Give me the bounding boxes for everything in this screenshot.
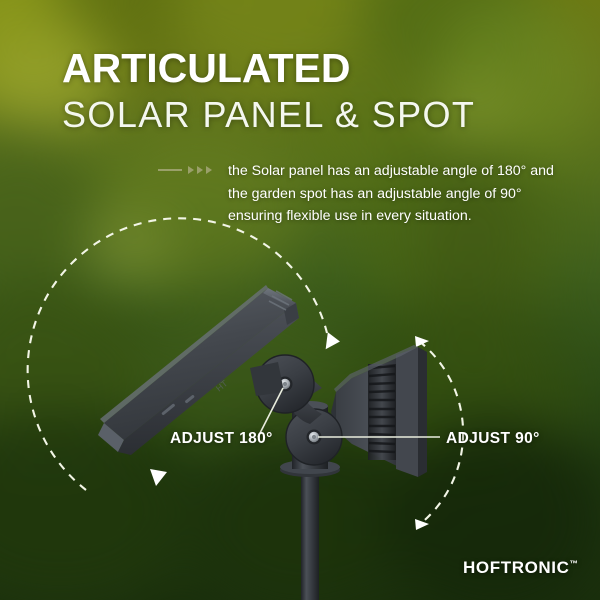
heatsink-fins (368, 364, 396, 460)
ground-stake (301, 470, 319, 600)
arc-180-arrowhead-top (324, 332, 342, 352)
garden-spot-head (331, 345, 427, 477)
trademark-symbol: ™ (570, 558, 579, 568)
brand-name: HOFTRONIC (463, 558, 569, 577)
promo-image: ARTICULATED SOLAR PANEL & SPOT the Solar… (0, 0, 600, 600)
brand-logo: HOFTRONIC™ (463, 558, 578, 578)
callout-adjust-90: ADJUST 90° (446, 430, 540, 448)
callout-adjust-180: ADJUST 180° (170, 430, 273, 448)
product-illustration: HT (0, 0, 600, 600)
arc-180-arrowhead-bottom (150, 469, 167, 486)
arc-90-arrowhead-top (415, 336, 429, 347)
arc-90-arrowhead-bottom (415, 519, 429, 530)
